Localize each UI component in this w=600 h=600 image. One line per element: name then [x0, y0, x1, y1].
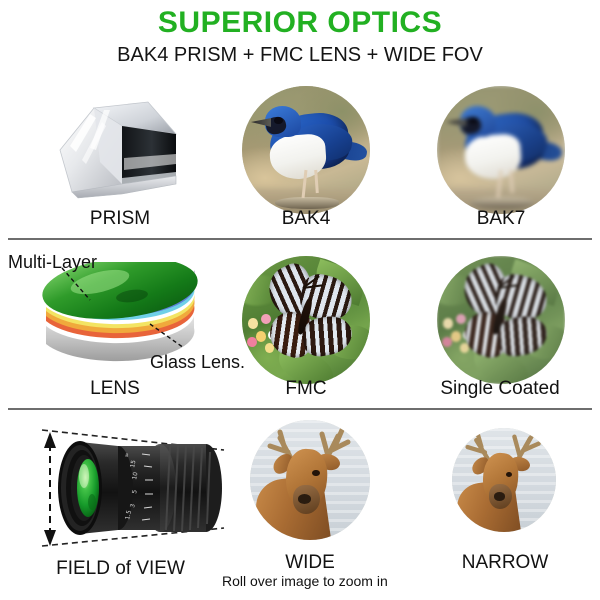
- caption-narrow: NARROW: [435, 552, 575, 574]
- caption-bak7: BAK7: [440, 208, 562, 230]
- label-multi-layer: Multi-Layer: [8, 252, 97, 273]
- caption-bak4: BAK4: [245, 208, 367, 230]
- row-divider-2: [8, 408, 592, 410]
- photo-wide: [250, 420, 370, 540]
- fov-lens-graphic: ∞ 15 10 5 3 1.5: [10, 424, 240, 554]
- zoom-hint-overlay: Roll over image to zoom in: [222, 573, 388, 589]
- caption-fmc: FMC: [245, 378, 367, 400]
- caption-field-of-view: FIELD of VIEW: [8, 558, 233, 580]
- page-title: SUPERIOR OPTICS: [0, 6, 600, 40]
- photo-fmc: [242, 256, 370, 384]
- row-divider-1: [8, 238, 592, 240]
- label-glass-lens: Glass Lens.: [150, 352, 245, 373]
- photo-bak7: [437, 86, 565, 214]
- caption-prism: PRISM: [20, 208, 220, 230]
- photo-bak4: [242, 86, 370, 214]
- roof-prism-graphic: [52, 88, 192, 203]
- caption-wide: WIDE: [250, 552, 370, 574]
- page-subtitle: BAK4 PRISM + FMC LENS + WIDE FOV: [0, 44, 600, 67]
- photo-narrow: [452, 428, 556, 532]
- caption-lens: LENS: [50, 378, 180, 400]
- product-infographic: SUPERIOR OPTICS BAK4 PRISM + FMC LENS + …: [0, 0, 600, 600]
- photo-single-coated: [437, 256, 565, 384]
- caption-single-coated: Single Coated: [425, 378, 575, 400]
